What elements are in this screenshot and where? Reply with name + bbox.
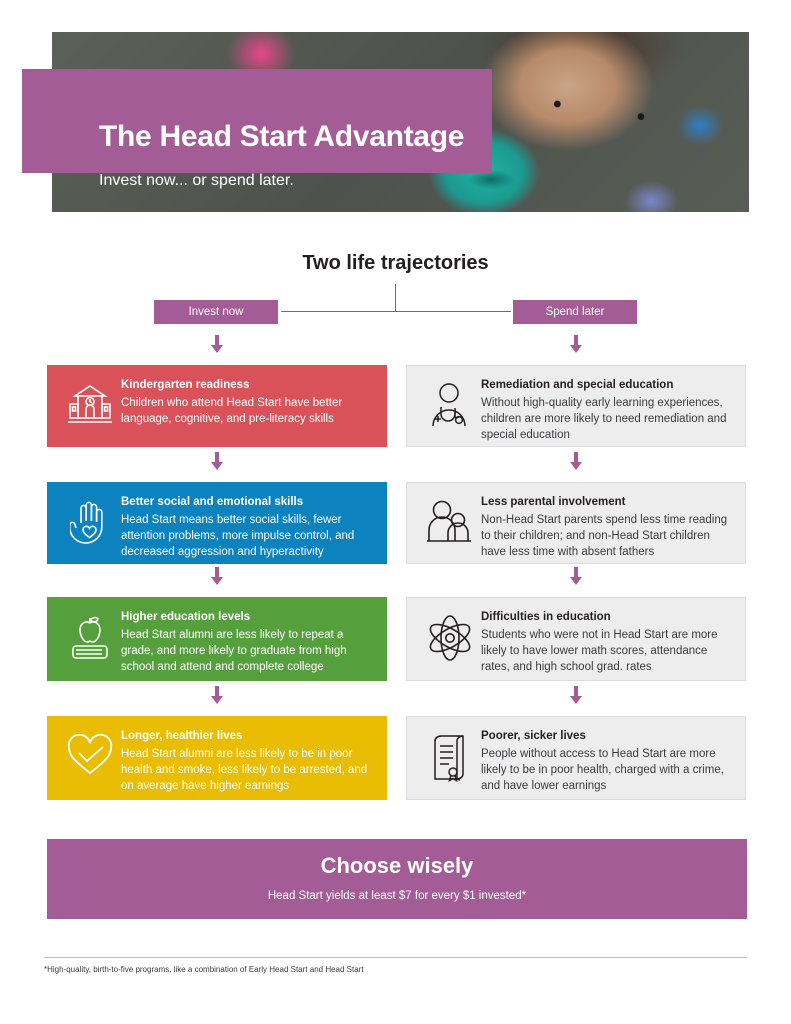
page-subtitle: Invest now... or spend later. bbox=[99, 173, 294, 189]
trajectory-connector-vertical bbox=[395, 284, 396, 312]
arrow-down-icon bbox=[568, 335, 584, 353]
arrow-down-icon bbox=[209, 567, 225, 585]
footnote-text: *High-quality, birth-to-five programs, l… bbox=[44, 965, 364, 975]
section-title: Two life trajectories bbox=[0, 252, 791, 275]
hero-banner: The Head Start Advantage Invest now... o… bbox=[52, 32, 749, 212]
card-heading: Remediation and special education bbox=[481, 378, 733, 394]
card-heading: Kindergarten readiness bbox=[121, 378, 375, 394]
card-heading: Better social and emotional skills bbox=[121, 495, 375, 511]
card-text: Head Start alumni are less likely to be … bbox=[121, 746, 375, 795]
hand-heart-icon bbox=[61, 495, 119, 545]
card-kindergarten-readiness[interactable]: Kindergarten readiness Children who atte… bbox=[47, 365, 387, 447]
card-longer-healthier-lives[interactable]: Longer, healthier lives Head Start alumn… bbox=[47, 716, 387, 800]
trajectory-connector-horizontal bbox=[281, 311, 511, 312]
card-heading: Higher education levels bbox=[121, 610, 375, 626]
certificate-seal-icon bbox=[421, 729, 479, 783]
doctor-stethoscope-icon bbox=[421, 378, 479, 430]
card-better-social-emotional-skills[interactable]: Better social and emotional skills Head … bbox=[47, 482, 387, 564]
card-heading: Poorer, sicker lives bbox=[481, 729, 733, 745]
arrow-down-icon bbox=[209, 686, 225, 704]
parent-child-icon bbox=[421, 495, 479, 543]
school-building-icon bbox=[61, 378, 119, 426]
card-poorer-sicker-lives[interactable]: Poorer, sicker lives People without acce… bbox=[406, 716, 746, 800]
card-text: Without high-quality early learning expe… bbox=[481, 395, 733, 444]
card-less-parental-involvement[interactable]: Less parental involvement Non-Head Start… bbox=[406, 482, 746, 564]
card-text: Head Start means better social skills, f… bbox=[121, 512, 375, 561]
card-text: People without access to Head Start are … bbox=[481, 746, 733, 795]
card-difficulties-in-education[interactable]: Difficulties in education Students who w… bbox=[406, 597, 746, 681]
card-remediation-special-education[interactable]: Remediation and special education Withou… bbox=[406, 365, 746, 447]
card-text: Students who were not in Head Start are … bbox=[481, 627, 733, 676]
card-text: Non-Head Start parents spend less time r… bbox=[481, 512, 733, 561]
arrow-down-icon bbox=[568, 686, 584, 704]
card-heading: Less parental involvement bbox=[481, 495, 733, 511]
arrow-down-icon bbox=[568, 452, 584, 470]
footnote-divider bbox=[44, 957, 747, 958]
heart-check-icon bbox=[61, 729, 119, 777]
atom-icon bbox=[421, 610, 479, 662]
arrow-down-icon bbox=[568, 567, 584, 585]
page-title: The Head Start Advantage bbox=[99, 122, 464, 152]
arrow-down-icon bbox=[209, 452, 225, 470]
card-heading: Difficulties in education bbox=[481, 610, 733, 626]
banner-title: Choose wisely bbox=[321, 855, 474, 877]
card-higher-education-levels[interactable]: Higher education levels Head Start alumn… bbox=[47, 597, 387, 681]
pill-invest-now[interactable]: Invest now bbox=[154, 300, 278, 324]
pill-spend-later[interactable]: Spend later bbox=[513, 300, 637, 324]
banner-subtitle: Head Start yields at least $7 for every … bbox=[268, 891, 526, 903]
card-heading: Longer, healthier lives bbox=[121, 729, 375, 745]
card-text: Children who attend Head Start have bett… bbox=[121, 395, 375, 428]
card-text: Head Start alumni are less likely to rep… bbox=[121, 627, 375, 676]
choose-wisely-banner: Choose wisely Head Start yields at least… bbox=[47, 839, 747, 919]
arrow-down-icon bbox=[209, 335, 225, 353]
apple-books-icon bbox=[61, 610, 119, 660]
